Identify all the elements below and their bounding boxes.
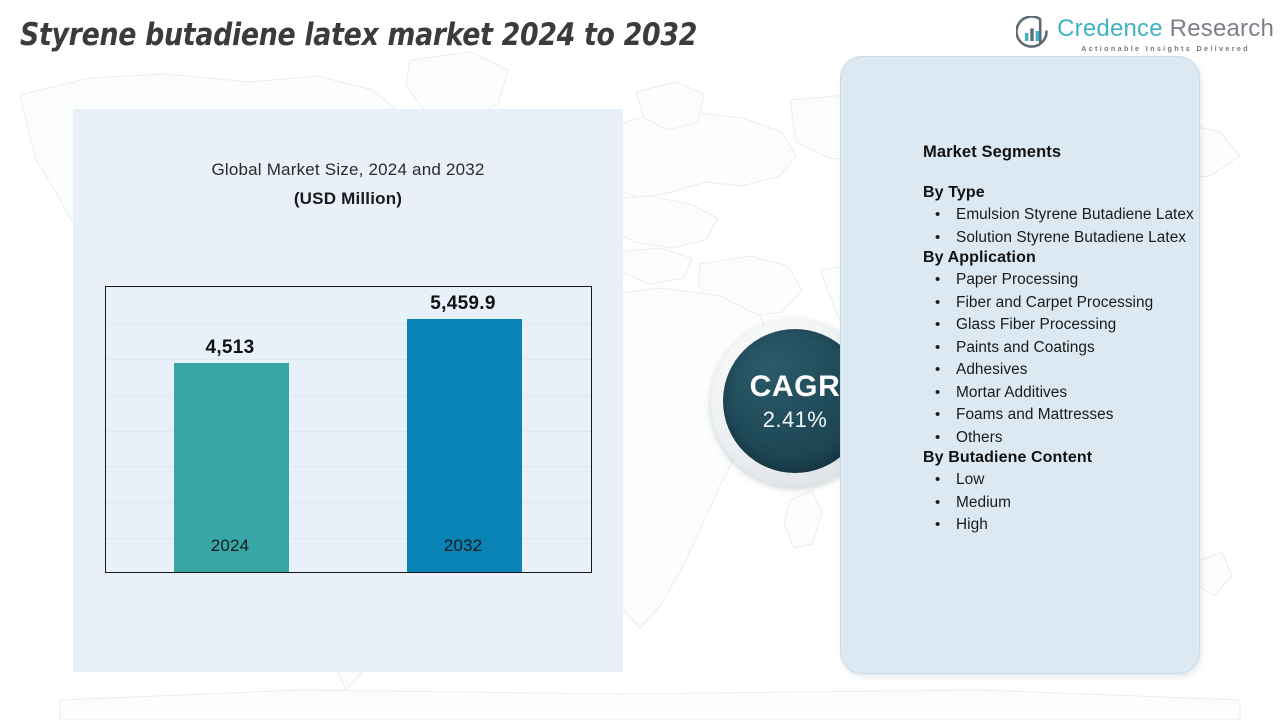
segment-heading-0: By Type	[923, 184, 1208, 202]
segment-item: •Adhesives	[923, 359, 1208, 382]
segment-item: •Fiber and Carpet Processing	[923, 292, 1208, 315]
bullet-icon: •	[935, 227, 940, 250]
bar-value-label-2032: 5,459.9	[373, 293, 553, 315]
brand-logo: Credence Research Actionable Insights De…	[1016, 14, 1274, 52]
bullet-icon: •	[935, 492, 940, 515]
segment-item-label: High	[956, 516, 988, 533]
bar-chart-circle-icon	[1016, 16, 1050, 50]
segment-item-label: Glass Fiber Processing	[956, 316, 1116, 333]
segment-item: •Glass Fiber Processing	[923, 314, 1208, 337]
segment-item: •Low	[923, 469, 1208, 492]
segment-item-label: Fiber and Carpet Processing	[956, 294, 1153, 311]
segment-item-label: Low	[956, 471, 984, 488]
segment-list-2: •Low•Medium•High	[923, 469, 1208, 537]
segment-heading-2: By Butadiene Content	[923, 449, 1208, 467]
bullet-icon: •	[935, 269, 940, 292]
segment-item-label: Solution Styrene Butadiene Latex	[956, 229, 1186, 246]
segment-item-label: Foams and Mattresses	[956, 406, 1114, 423]
page-title: Styrene butadiene latex market 2024 to 2…	[20, 17, 697, 53]
segment-item: •Paper Processing	[923, 269, 1208, 292]
bullet-icon: •	[935, 314, 940, 337]
segment-item: •Paints and Coatings	[923, 337, 1208, 360]
bullet-icon: •	[935, 292, 940, 315]
brand-tagline: Actionable Insights Delivered	[1057, 45, 1274, 52]
brand-name-second: Research	[1163, 15, 1274, 42]
cagr-label: CAGR	[750, 372, 841, 402]
bullet-icon: •	[935, 514, 940, 537]
segment-list-1: •Paper Processing•Fiber and Carpet Proce…	[923, 269, 1208, 449]
segment-item: •Foams and Mattresses	[923, 404, 1208, 427]
bullet-icon: •	[935, 337, 940, 360]
market-segments-content: Market Segments By Type•Emulsion Styrene…	[923, 143, 1208, 537]
segment-item: •Medium	[923, 492, 1208, 515]
bullet-icon: •	[935, 427, 940, 450]
bullet-icon: •	[935, 382, 940, 405]
segments-title: Market Segments	[923, 143, 1208, 162]
bullet-icon: •	[935, 359, 940, 382]
segment-item: •Others	[923, 427, 1208, 450]
bar-chart-plot-area	[105, 286, 592, 573]
cagr-value: 2.41%	[763, 409, 827, 431]
x-axis-label-2032: 2032	[373, 536, 553, 556]
x-axis-label-2024: 2024	[140, 536, 320, 556]
segment-item: •Emulsion Styrene Butadiene Latex	[923, 204, 1208, 227]
segment-groups: By Type•Emulsion Styrene Butadiene Latex…	[923, 184, 1208, 537]
bar-value-label-2024: 4,513	[140, 337, 320, 359]
chart-subtitle: (USD Million)	[73, 189, 623, 209]
chart-title: Global Market Size, 2024 and 2032	[73, 160, 623, 180]
segment-item-label: Paints and Coatings	[956, 339, 1095, 356]
segment-item: •Solution Styrene Butadiene Latex	[923, 227, 1208, 250]
segment-heading-1: By Application	[923, 249, 1208, 267]
infographic-canvas: Styrene butadiene latex market 2024 to 2…	[0, 0, 1280, 720]
segment-item-label: Paper Processing	[956, 271, 1078, 288]
bullet-icon: •	[935, 204, 940, 227]
segment-list-0: •Emulsion Styrene Butadiene Latex•Soluti…	[923, 204, 1208, 249]
segment-item-label: Emulsion Styrene Butadiene Latex	[956, 206, 1194, 223]
segment-item: •High	[923, 514, 1208, 537]
segment-item-label: Adhesives	[956, 361, 1027, 378]
segment-item: •Mortar Additives	[923, 382, 1208, 405]
bullet-icon: •	[935, 469, 940, 492]
segment-item-label: Mortar Additives	[956, 384, 1067, 401]
bar-2032	[407, 319, 522, 572]
bullet-icon: •	[935, 404, 940, 427]
segment-item-label: Others	[956, 429, 1003, 446]
segment-item-label: Medium	[956, 494, 1011, 511]
brand-name-first: Credence	[1057, 15, 1163, 42]
brand-name: Credence Research	[1057, 17, 1274, 41]
